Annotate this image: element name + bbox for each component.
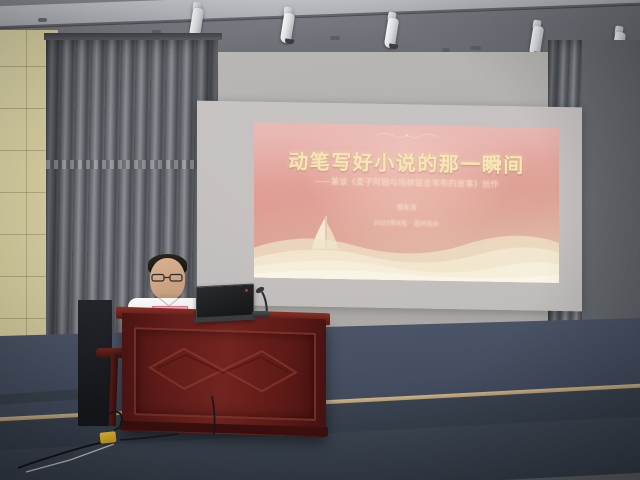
laptop-logo-dot <box>245 289 248 292</box>
track-spotlight <box>385 12 398 48</box>
slide-title: 动笔写好小说的那一瞬间 <box>254 145 559 179</box>
ceiling-vent <box>38 18 47 22</box>
projection-screen: 动笔写好小说的那一瞬间 ——兼谈《麦子阿娟与场林银杏苇布的故事》创作 郑永涛 2… <box>197 101 582 312</box>
track-spotlight <box>281 7 294 43</box>
yellow-power-adapter <box>99 431 116 444</box>
floor-cable-icon <box>0 390 300 480</box>
ceiling-vent <box>330 36 340 40</box>
eyeglasses-icon <box>151 273 184 282</box>
curtain-tie-band <box>46 160 218 169</box>
microphone-base <box>252 311 270 318</box>
slide-author: 郑永涛 <box>254 199 559 214</box>
stage-photo: 动笔写好小说的那一瞬间 ——兼谈《麦子阿娟与场林银杏苇布的故事》创作 郑永涛 2… <box>0 0 640 480</box>
presentation-slide: 动笔写好小说的那一瞬间 ——兼谈《麦子阿娟与场林银杏苇布的故事》创作 郑永涛 2… <box>254 123 559 283</box>
flourish-ornament-icon <box>372 131 442 141</box>
curtain-rod <box>44 33 222 40</box>
wave-ribbons-graphic-icon <box>254 218 559 283</box>
track-spotlight <box>530 20 543 56</box>
ceiling-vent <box>470 46 481 50</box>
